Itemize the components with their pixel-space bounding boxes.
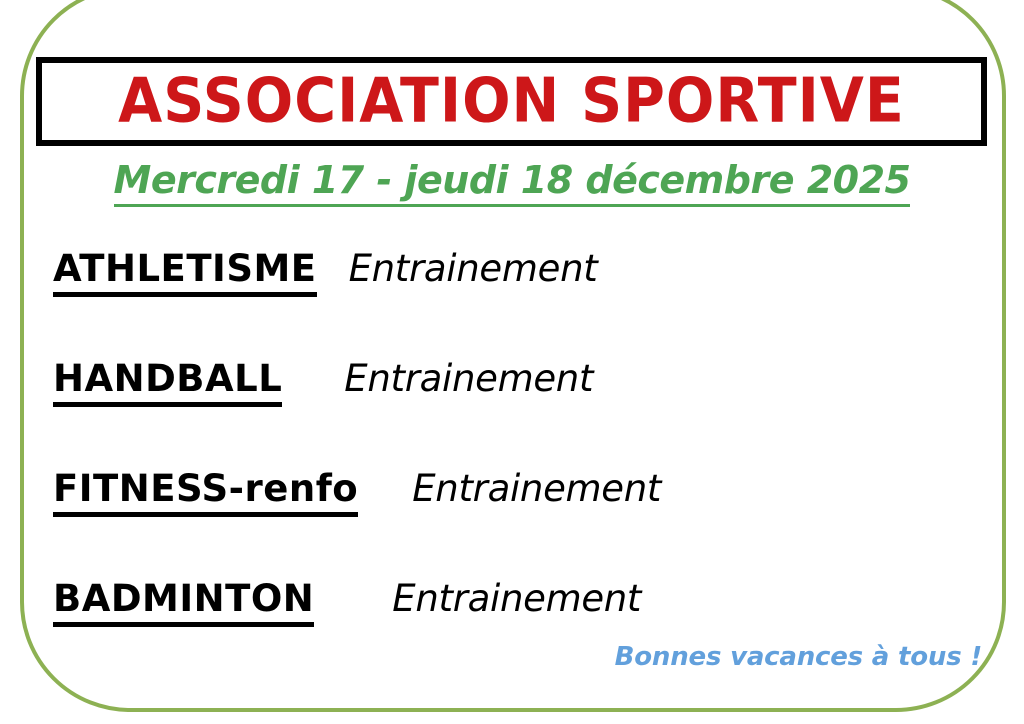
date-range-subtitle: Mercredi 17 - jeudi 18 décembre 2025 <box>114 158 911 207</box>
footer-row: Bonnes vacances à tous ! <box>0 642 1024 672</box>
activity-detail-athletisme: Entrainement <box>349 248 598 289</box>
title-banner-box: ASSOCIATION SPORTIVE <box>36 57 987 146</box>
activity-detail-fitness-renfo: Entrainement <box>412 468 661 509</box>
activity-name-badminton: BADMINTON <box>53 578 314 627</box>
activity-list: ATHLETISME Entrainement HANDBALL Entrain… <box>0 248 1024 688</box>
activity-name-fitness-renfo: FITNESS-renfo <box>53 468 358 517</box>
poster-canvas: ASSOCIATION SPORTIVE Mercredi 17 - jeudi… <box>0 0 1024 724</box>
list-item: ATHLETISME Entrainement <box>0 248 1024 358</box>
activity-name-handball: HANDBALL <box>53 358 282 407</box>
activity-detail-badminton: Entrainement <box>392 578 641 619</box>
list-item: HANDBALL Entrainement <box>0 358 1024 468</box>
list-item: FITNESS-renfo Entrainement <box>0 468 1024 578</box>
subtitle-row: Mercredi 17 - jeudi 18 décembre 2025 <box>0 158 1024 207</box>
page-title: ASSOCIATION SPORTIVE <box>118 71 905 133</box>
activity-name-athletisme: ATHLETISME <box>53 248 317 297</box>
holiday-greeting: Bonnes vacances à tous ! <box>615 642 982 672</box>
activity-detail-handball: Entrainement <box>344 358 593 399</box>
